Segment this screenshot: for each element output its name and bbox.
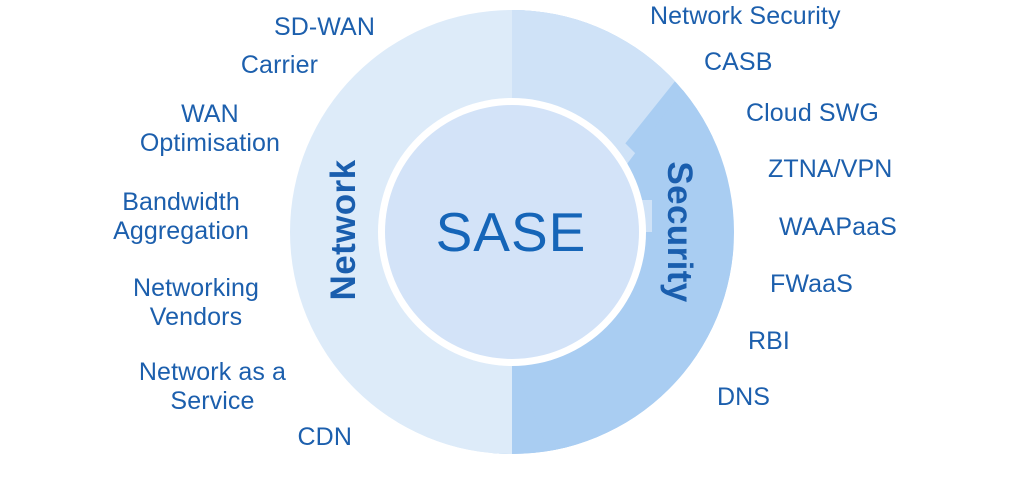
network-label-wan-optimisation: WAN Optimisation <box>140 100 280 158</box>
center-label-sase: SASE <box>436 200 587 264</box>
ring-label-network: Network <box>324 160 364 301</box>
security-label-rbi: RBI <box>748 327 790 356</box>
security-label-waapaas: WAAPaaS <box>779 213 897 242</box>
security-label-fwaas: FWaaS <box>770 270 853 299</box>
security-label-cloud-swg: Cloud SWG <box>746 99 879 128</box>
network-label-sd-wan: SD-WAN <box>274 13 375 42</box>
security-label-ztna-vpn: ZTNA/VPN <box>768 155 892 184</box>
network-label-network-as-a-service: Network as a Service <box>139 358 286 416</box>
security-label-casb: CASB <box>704 48 772 77</box>
network-label-cdn: CDN <box>298 423 352 452</box>
security-label-network-security: Network Security <box>650 2 841 31</box>
network-label-networking-vendors: Networking Vendors <box>133 274 259 332</box>
security-label-dns: DNS <box>717 383 770 412</box>
ring-label-security: Security <box>659 161 699 302</box>
sase-diagram: SD-WAN Carrier WAN Optimisation Bandwidt… <box>0 0 1024 481</box>
network-label-carrier: Carrier <box>241 51 318 80</box>
network-label-bandwidth-aggregation: Bandwidth Aggregation <box>113 188 249 246</box>
